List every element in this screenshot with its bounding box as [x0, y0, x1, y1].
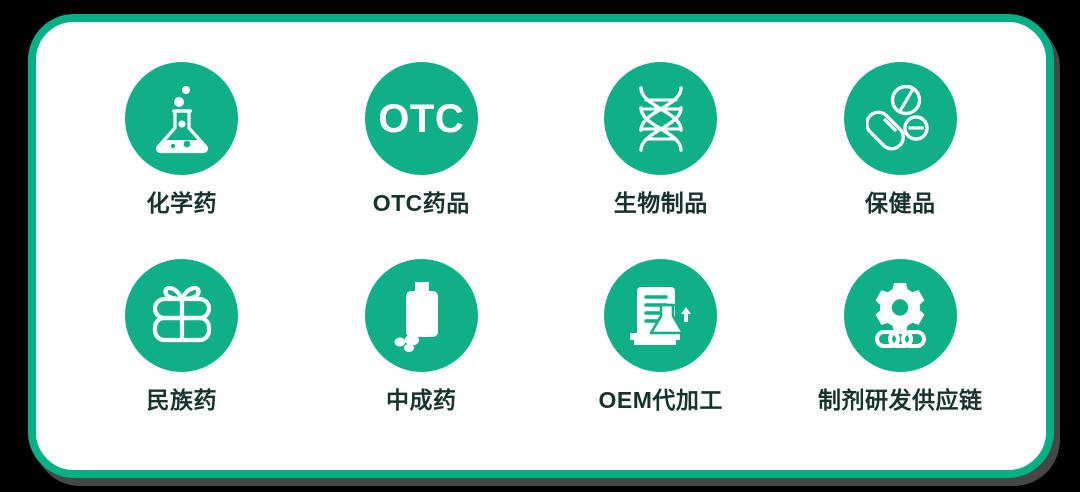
icon-badge: [125, 259, 238, 372]
category-label: 保健品: [865, 192, 936, 215]
icon-badge: [844, 259, 957, 372]
category-label: 中成药: [386, 389, 457, 412]
screenshot-root: 化学药 OTC OTC药品: [0, 0, 1080, 492]
category-label: 生物制品: [614, 192, 708, 215]
category-label: OEM代加工: [599, 389, 723, 412]
category-grid: 化学药 OTC OTC药品: [36, 22, 1046, 470]
dna-helix-icon: [628, 84, 694, 154]
gear-chain-icon: [865, 281, 935, 351]
pills-capsule-icon: [866, 85, 934, 153]
icon-badge: [125, 62, 238, 175]
flask-icon: [149, 84, 215, 154]
icon-badge: [604, 62, 717, 175]
category-label: 民族药: [147, 389, 218, 412]
category-item-biologics[interactable]: 生物制品: [541, 62, 781, 249]
category-label: 制剂研发供应链: [818, 389, 983, 412]
category-item-ethnic-medicine[interactable]: 民族药: [62, 249, 302, 436]
icon-badge: [365, 259, 478, 372]
otc-text-icon: OTC: [378, 99, 464, 139]
gift-box-icon: [147, 283, 217, 349]
category-item-tcm[interactable]: 中成药: [302, 249, 542, 436]
document-flask-icon: [626, 283, 696, 349]
category-item-otc[interactable]: OTC OTC药品: [302, 62, 542, 249]
category-card: 化学药 OTC OTC药品: [36, 22, 1046, 470]
category-item-healthcare[interactable]: 保健品: [781, 62, 1021, 249]
icon-badge: [604, 259, 717, 372]
category-card-frame: 化学药 OTC OTC药品: [28, 14, 1054, 478]
category-label: 化学药: [147, 192, 218, 215]
category-item-oem[interactable]: OEM代加工: [541, 249, 781, 436]
icon-badge: [844, 62, 957, 175]
category-label: OTC药品: [373, 192, 470, 215]
category-item-supply-chain[interactable]: 制剂研发供应链: [781, 249, 1021, 436]
medicine-bottle-icon: [390, 280, 452, 352]
icon-badge: OTC: [365, 62, 478, 175]
category-item-chemical-drug[interactable]: 化学药: [62, 62, 302, 249]
